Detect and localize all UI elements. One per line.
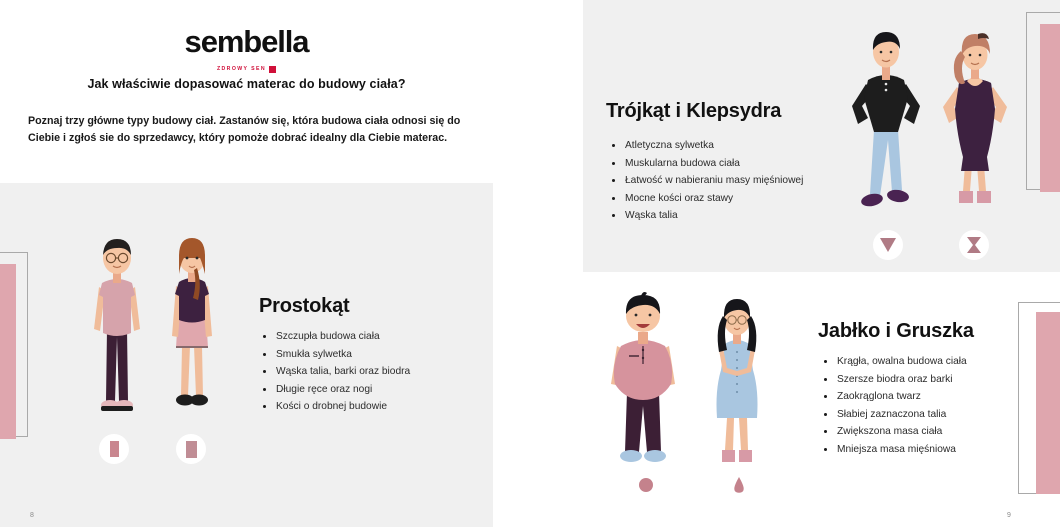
list-item: Szersze biodra oraz barki (822, 371, 1037, 389)
intro-body: Poznaj trzy główne typy budowy ciał. Zas… (28, 113, 490, 148)
man-rectangle-figure (82, 225, 152, 420)
hourglass-icon (966, 236, 982, 254)
rectangle-narrow-icon (110, 441, 119, 457)
apple-circle-icon (639, 478, 653, 492)
hourglass-badge (959, 230, 989, 260)
list-item: Mniejsza masa mięśniowa (822, 441, 1037, 459)
woman-hourglass-figure (935, 25, 1013, 220)
pear-drop-icon (732, 476, 746, 494)
list-item: Atletyczna sylwetka (610, 137, 870, 155)
woman-pear-figure (701, 290, 773, 478)
list-item: Mocne kości oraz stawy (610, 190, 870, 208)
top-right-decoration (1026, 12, 1060, 192)
list-item: Zaokrąglona twarz (822, 388, 1037, 406)
bullets-trojkat: Atletyczna sylwetka Muskularna budowa ci… (610, 137, 870, 225)
section-title-trojkat: Trójkąt i Klepsydra (606, 100, 781, 123)
presentation-stage: sembella ZDROWY SEN Jak właściwie dopaso… (0, 0, 1060, 527)
triangle-down-badge (873, 230, 903, 260)
triangle-down-icon (880, 238, 896, 252)
list-item: Długie ręce oraz nogi (261, 381, 476, 399)
pear-drop-badge (724, 470, 754, 500)
slide-page-8[interactable]: sembella ZDROWY SEN Jak właściwie dopaso… (0, 0, 493, 527)
list-item: Zwiększona masa ciała (822, 423, 1037, 441)
list-item: Muskularna budowa ciała (610, 155, 870, 173)
list-item: Kości o drobnej budowie (261, 398, 476, 416)
rectangle-wide-badge (176, 434, 206, 464)
bullets-prostokat: Szczupła budowa ciała Smukła sylwetka Wą… (261, 328, 476, 416)
rectangle-narrow-badge (99, 434, 129, 464)
decoration-bar (1040, 24, 1060, 192)
brand-tagline: ZDROWY SEN (217, 66, 266, 72)
brand-tagline-wrap: ZDROWY SEN (217, 66, 276, 73)
brand-logo: sembella ZDROWY SEN (0, 26, 493, 75)
brand-name: sembella (0, 26, 493, 57)
rectangle-wide-icon (186, 441, 197, 458)
section-title-prostokat: Prostokąt (259, 295, 349, 318)
section-title-jablko: Jabłko i Gruszka (818, 320, 974, 343)
list-item: Łatwość w nabieraniu masy mięśniowej (610, 172, 870, 190)
man-triangle-figure (848, 22, 930, 220)
list-item: Szczupła budowa ciała (261, 328, 476, 346)
list-item: Wąska talia, barki oraz biodra (261, 363, 476, 381)
list-item: Wąska talia (610, 207, 870, 225)
bullets-jablko: Krągła, owalna budowa ciała Szersze biod… (822, 353, 1037, 458)
page-number-right: 9 (1007, 512, 1011, 519)
intro-title: Jak właściwie dopasować materac do budow… (0, 77, 493, 91)
woman-rectangle-figure (160, 228, 224, 420)
list-item: Smukła sylwetka (261, 346, 476, 364)
slide-page-9[interactable]: Trójkąt i Klepsydra Atletyczna sylwetka … (583, 0, 1060, 527)
brand-square-icon (269, 66, 276, 73)
apple-circle-badge (631, 470, 661, 500)
decoration-bar (0, 264, 16, 439)
list-item: Słabiej zaznaczona talia (822, 406, 1037, 424)
left-decoration (0, 258, 30, 443)
decoration-bar (1036, 312, 1060, 494)
page-number-left: 8 (30, 512, 34, 519)
list-item: Krągła, owalna budowa ciała (822, 353, 1037, 371)
man-apple-figure (605, 288, 687, 478)
